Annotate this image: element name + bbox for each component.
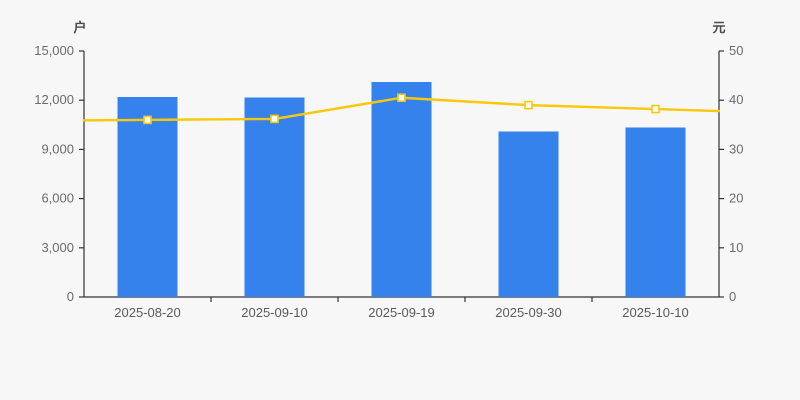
bar-2025-09-19 xyxy=(372,82,432,297)
x-axis-category-label: 2025-09-30 xyxy=(495,305,562,320)
right-axis-tick-label: 40 xyxy=(729,92,743,107)
x-axis-category-label: 2025-10-10 xyxy=(622,305,689,320)
right-axis-tick-label: 20 xyxy=(729,191,743,206)
x-axis-category-label: 2025-09-10 xyxy=(241,305,308,320)
bar-2025-08-20 xyxy=(118,97,178,297)
left-axis-tick-label: 6,000 xyxy=(41,191,74,206)
line-marker-2025-10-10 xyxy=(652,106,659,113)
bar-2025-09-30 xyxy=(499,131,559,297)
right-axis-tick-label: 30 xyxy=(729,141,743,156)
line-marker-2025-09-19 xyxy=(398,94,405,101)
right-axis-tick-label: 10 xyxy=(729,240,743,255)
line-marker-2025-08-20 xyxy=(144,116,151,123)
right-axis-tick-label: 0 xyxy=(729,289,736,304)
right-axis-unit-label: 元 xyxy=(712,20,725,35)
left-axis-tick-label: 15,000 xyxy=(34,43,74,58)
left-axis-tick-label: 3,000 xyxy=(41,240,74,255)
left-axis-unit-label: 户 xyxy=(73,20,86,35)
left-axis-tick-label: 9,000 xyxy=(41,141,74,156)
x-axis-category-label: 2025-09-19 xyxy=(368,305,435,320)
left-axis-tick-label: 0 xyxy=(67,289,74,304)
right-axis-tick-label: 50 xyxy=(729,43,743,58)
chart-container: 户 元 03,0006,0009,00012,00015,000 0102030… xyxy=(0,0,800,400)
chart-canvas: 户 元 03,0006,0009,00012,00015,000 0102030… xyxy=(0,0,800,400)
left-axis-tick-label: 12,000 xyxy=(34,92,74,107)
line-marker-2025-09-30 xyxy=(525,102,532,109)
line-marker-2025-09-10 xyxy=(271,115,278,122)
bar-2025-09-10 xyxy=(245,98,305,297)
bar-2025-10-10 xyxy=(626,127,686,297)
x-axis-category-label: 2025-08-20 xyxy=(114,305,181,320)
